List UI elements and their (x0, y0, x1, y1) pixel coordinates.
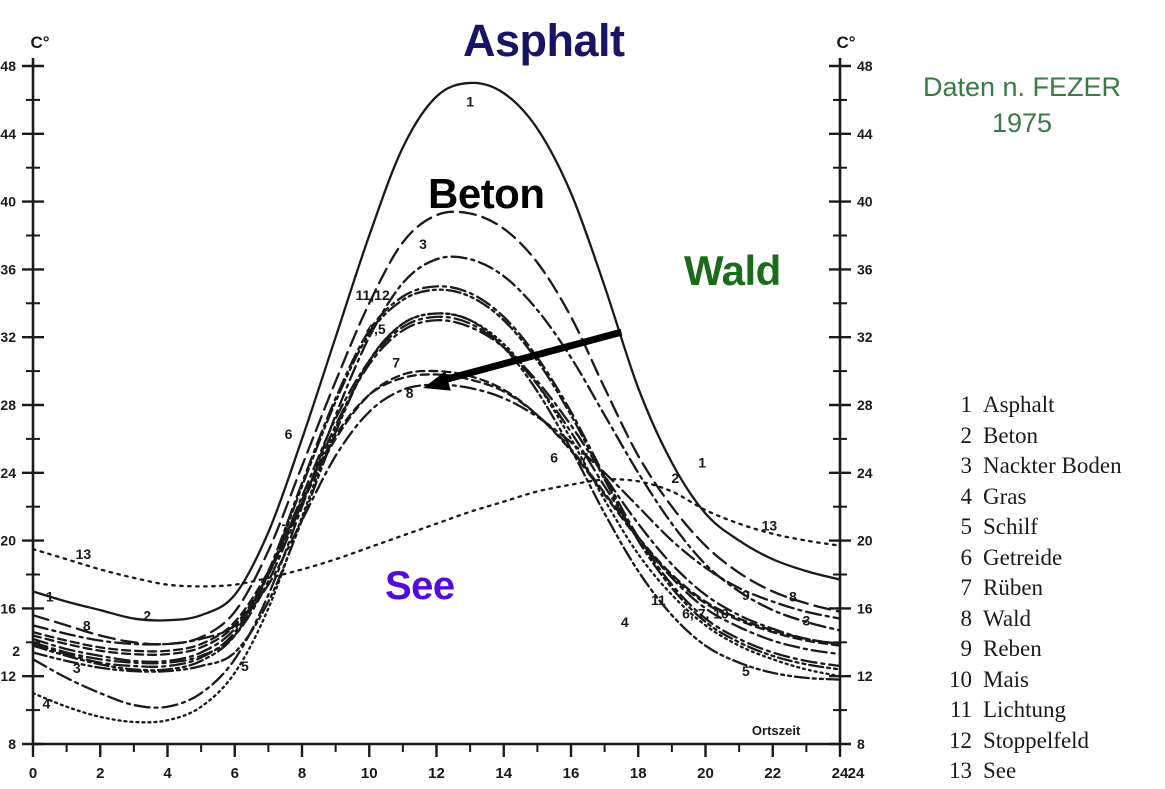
y-tick-label-left-40: 40 (0, 194, 16, 210)
legend-item-9: 9Reben (938, 636, 1122, 667)
curve-inline-label-24: 4 (43, 695, 51, 711)
legend-item-number: 6 (938, 545, 983, 571)
curve-inline-label-11: 13 (762, 517, 778, 533)
legend-item-label: Asphalt (983, 392, 1055, 418)
x-tick-label-12: 12 (428, 765, 445, 778)
y-tick-label-left-36: 36 (0, 261, 16, 277)
legend-item-number: 4 (938, 484, 983, 510)
y-tick-label-right-20: 20 (857, 533, 873, 549)
y-tick-label-right-36: 36 (857, 261, 873, 277)
x-tick-label-6: 6 (231, 765, 239, 778)
legend-item-label: Wald (983, 606, 1031, 632)
legend-item-8: 8Wald (938, 606, 1122, 637)
x-tick-label-2: 2 (96, 765, 104, 778)
legend-item-number: 5 (938, 514, 983, 540)
y-tick-label-right-44: 44 (857, 126, 873, 142)
legend-list: 1Asphalt2Beton3Nackter Boden4Gras5Schilf… (938, 392, 1122, 789)
y-axis-unit-right: C° (836, 33, 855, 52)
legend-item-5: 5Schilf (938, 514, 1122, 545)
y-tick-label-right-32: 32 (857, 329, 873, 345)
legend-item-label: Beton (983, 423, 1038, 449)
legend-item-number: 10 (938, 667, 983, 693)
legend-item-label: Lichtung (983, 697, 1066, 723)
legend-item-label: Gras (983, 484, 1026, 510)
legend-item-4: 4Gras (938, 484, 1122, 515)
x-tick-label-10: 10 (361, 765, 378, 778)
legend-item-13: 13See (938, 758, 1122, 789)
legend-item-11: 11Lichtung (938, 697, 1122, 728)
y-tick-label-right-16: 16 (857, 600, 873, 616)
legend-item-label: Nackter Boden (983, 453, 1122, 479)
curve-inline-label-4: 6 (285, 426, 293, 442)
y-tick-label-right-24: 24 (857, 465, 873, 481)
source-attribution: Daten n. FEZER 1975 (897, 70, 1147, 141)
curve-inline-label-5: 7 (392, 355, 400, 371)
curve-inline-label-20: 1 (46, 589, 54, 605)
curve-inline-label-18: 5 (742, 663, 750, 679)
x-tick-label-14: 14 (495, 765, 512, 778)
legend-item-label: Stoppelfeld (983, 728, 1089, 754)
source-line-1: Daten n. FEZER (897, 70, 1147, 106)
y-tick-label-right-28: 28 (857, 397, 873, 413)
y-tick-label-right-8: 8 (857, 736, 865, 752)
legend-item-7: 7Rüben (938, 575, 1122, 606)
curve-inline-label-0: 1 (466, 94, 474, 110)
overlay-label-wald: Wald (684, 247, 781, 295)
legend-item-label: Schilf (983, 514, 1038, 540)
y-axis-unit-left: C° (30, 33, 49, 52)
curve-inline-label-7: 6 (550, 450, 558, 466)
x-tick-label-16: 16 (563, 765, 580, 778)
x-tick-label-0: 0 (29, 765, 37, 778)
x-tick-label-20: 20 (697, 765, 714, 778)
curve-inline-label-23: 3 (73, 660, 81, 676)
x-tick-label-24: 24 (832, 765, 849, 778)
y-tick-label-left-44: 44 (0, 126, 16, 142)
curve-inline-label-27: 2 (12, 643, 20, 659)
curve-1-asphalt (33, 83, 840, 621)
legend-item-12: 12Stoppelfeld (938, 728, 1122, 759)
legend-item-number: 11 (938, 697, 983, 723)
legend-item-6: 6Getreide (938, 545, 1122, 576)
legend-item-label: Getreide (983, 545, 1062, 571)
legend-item-number: 2 (938, 423, 983, 449)
curve-inline-label-10: 1 (698, 455, 706, 471)
y-tick-label-left-32: 32 (0, 329, 16, 345)
legend-item-label: Mais (983, 667, 1029, 693)
y-tick-label-right-12: 12 (857, 668, 873, 684)
legend-item-label: Reben (983, 636, 1042, 662)
legend-item-1: 1Asphalt (938, 392, 1122, 423)
overlay-label-see: See (385, 564, 455, 609)
source-line-2: 1975 (897, 106, 1147, 142)
legend-item-number: 12 (938, 728, 983, 754)
y-tick-label-left-20: 20 (0, 533, 16, 549)
curve-inline-label-1: 3 (419, 236, 427, 252)
curve-inline-label-12: 8 (789, 589, 797, 605)
legend-item-number: 9 (938, 636, 983, 662)
legend-item-3: 3Nackter Boden (938, 453, 1122, 484)
curve-inline-label-26: 7 (281, 521, 289, 537)
x-tick-label-22: 22 (764, 765, 781, 778)
curve-inline-label-16: 11 (651, 592, 666, 608)
y-tick-label-right-48: 48 (857, 58, 873, 74)
legend-item-number: 7 (938, 575, 983, 601)
y-tick-label-right-40: 40 (857, 194, 873, 210)
curve-inline-label-17: 4 (621, 614, 629, 630)
y-tick-label-left-24: 24 (0, 465, 16, 481)
curve-inline-label-2: 11,12 (355, 287, 389, 303)
legend-item-number: 8 (938, 606, 983, 632)
x-axis-corner-label: 24 (848, 765, 865, 778)
legend-item-number: 1 (938, 392, 983, 418)
curve-5-schilf (33, 313, 840, 679)
legend-item-label: See (983, 758, 1016, 784)
legend-item-label: Rüben (983, 575, 1043, 601)
curve-inline-label-8: 7 (581, 450, 589, 466)
legend-item-number: 13 (938, 758, 983, 784)
curve-inline-label-21: 2 (143, 607, 151, 623)
curve-inline-label-22: 8 (83, 617, 91, 633)
curve-inline-label-9: 2 (671, 470, 679, 486)
curve-inline-label-14: 6, 7, 10 (682, 606, 729, 622)
curve-inline-label-15: 3 (802, 612, 810, 628)
curve-inline-label-25: 5 (241, 658, 249, 674)
curve-inline-label-6: 8 (406, 385, 414, 401)
y-tick-label-left-48: 48 (0, 58, 16, 74)
x-tick-label-4: 4 (163, 765, 172, 778)
legend-item-10: 10Mais (938, 667, 1122, 698)
y-tick-label-left-16: 16 (0, 600, 16, 616)
x-tick-label-18: 18 (630, 765, 647, 778)
y-tick-label-left-8: 8 (8, 736, 16, 752)
curve-inline-label-3: 4,5 (366, 321, 386, 337)
curve-inline-label-19: 13 (76, 546, 92, 562)
legend-item-2: 2Beton (938, 423, 1122, 454)
x-tick-label-8: 8 (298, 765, 306, 778)
x-axis-label: Ortszeit (752, 723, 801, 738)
curve-3-nackter-boden (33, 257, 840, 708)
y-tick-label-left-12: 12 (0, 668, 16, 684)
overlay-label-asphalt: Asphalt (463, 15, 625, 67)
curve-inline-label-13: 9 (742, 587, 750, 603)
legend-item-number: 3 (938, 453, 983, 479)
overlay-label-beton: Beton (428, 170, 545, 218)
y-tick-label-left-28: 28 (0, 397, 16, 413)
